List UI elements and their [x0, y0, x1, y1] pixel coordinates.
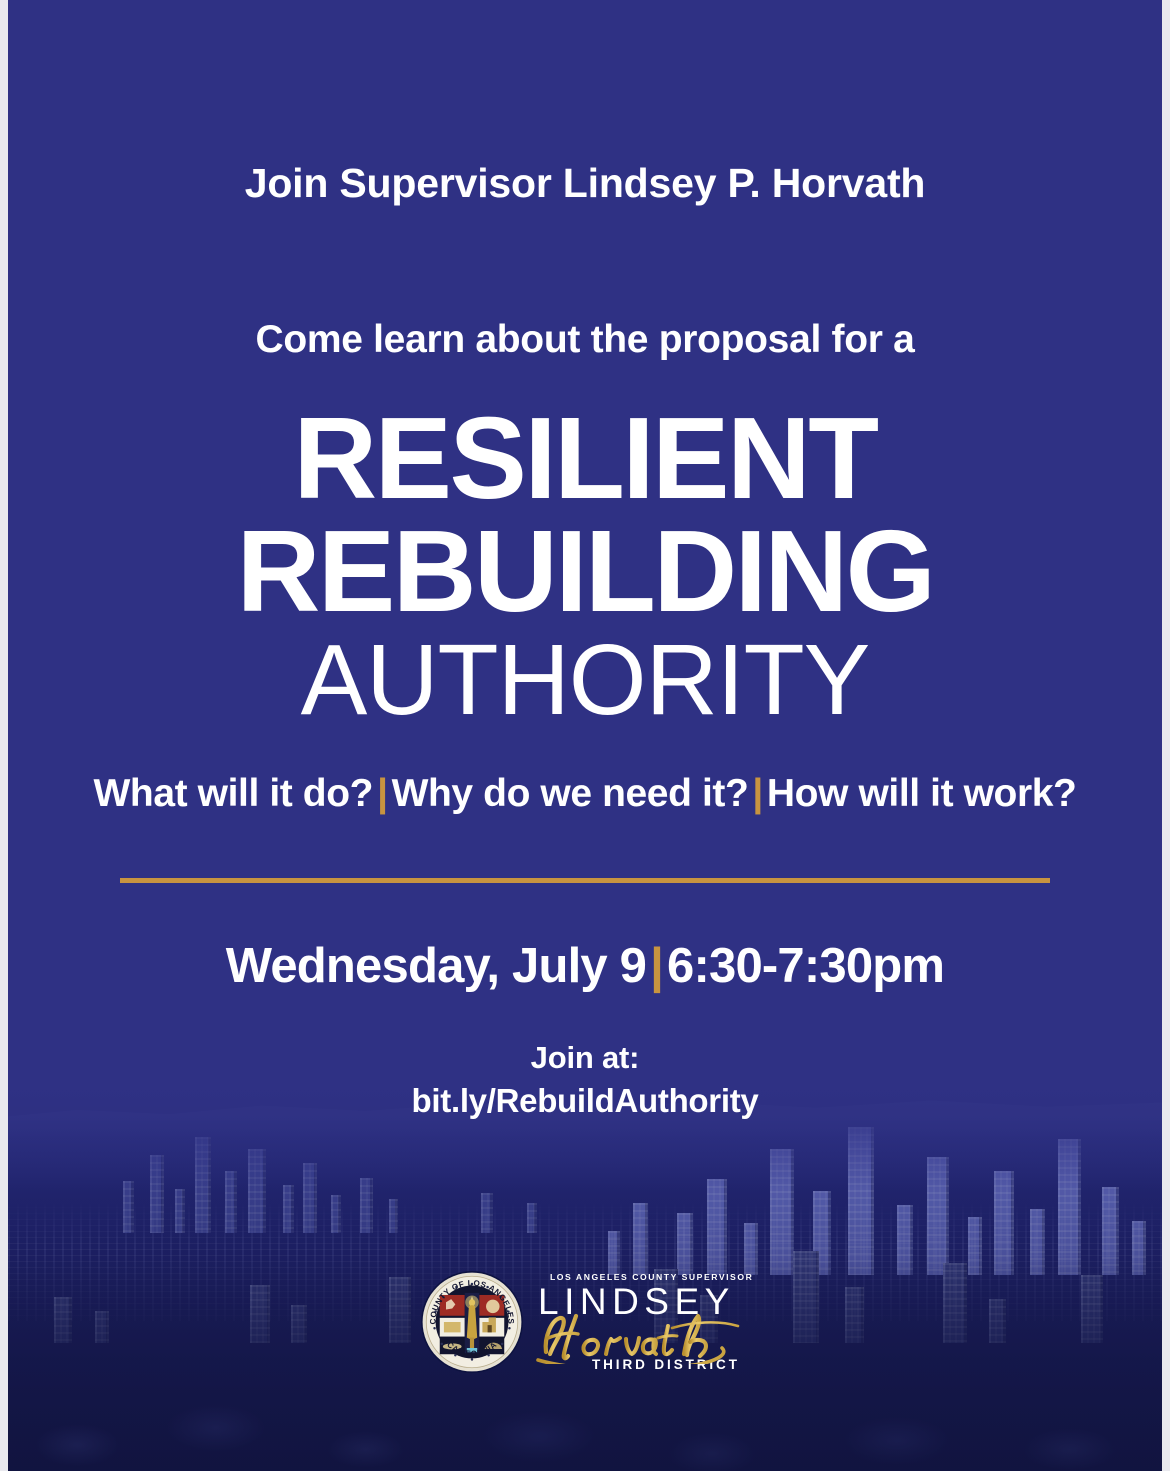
event-flyer: Join Supervisor Lindsey P. Horvath Come …: [8, 0, 1162, 1471]
join-label: Join at:: [8, 1040, 1162, 1076]
subheading-text: Come learn about the proposal for a: [8, 318, 1162, 362]
la-county-seal-icon: COUNTY OF LOS ANGELES CALIFORNIA: [420, 1270, 524, 1374]
event-time: 6:30-7:30pm: [667, 939, 944, 993]
supervisor-logo-lockup: COUNTY OF LOS ANGELES CALIFORNIA LOS ANG…: [8, 1270, 1162, 1374]
question-3: How will it work?: [767, 772, 1077, 815]
questions-line: What will it do?|Why do we need it?|How …: [8, 772, 1162, 816]
question-2: Why do we need it?: [392, 772, 749, 815]
event-datetime-line: Wednesday, July 9|6:30-7:30pm: [8, 938, 1162, 994]
kicker-text: Join Supervisor Lindsey P. Horvath: [8, 160, 1162, 207]
join-url[interactable]: bit.ly/RebuildAuthority: [8, 1082, 1162, 1120]
headline-line-1: RESILIENT: [8, 402, 1162, 515]
question-separator-2: |: [748, 772, 767, 815]
question-separator-1: |: [373, 772, 392, 815]
logo-wordmark: LOS ANGELES COUNTY SUPERVISOR LINDSEY: [538, 1272, 750, 1372]
question-1: What will it do?: [94, 772, 374, 815]
headline: RESILIENT REBUILDING AUTHORITY: [8, 402, 1162, 731]
headline-line-2: REBUILDING: [8, 515, 1162, 628]
gold-divider-rule: [120, 878, 1050, 883]
horvath-signature-script: [532, 1308, 756, 1364]
datetime-separator: |: [646, 939, 667, 993]
headline-line-3: AUTHORITY: [8, 629, 1162, 731]
event-date: Wednesday, July 9: [226, 939, 646, 993]
